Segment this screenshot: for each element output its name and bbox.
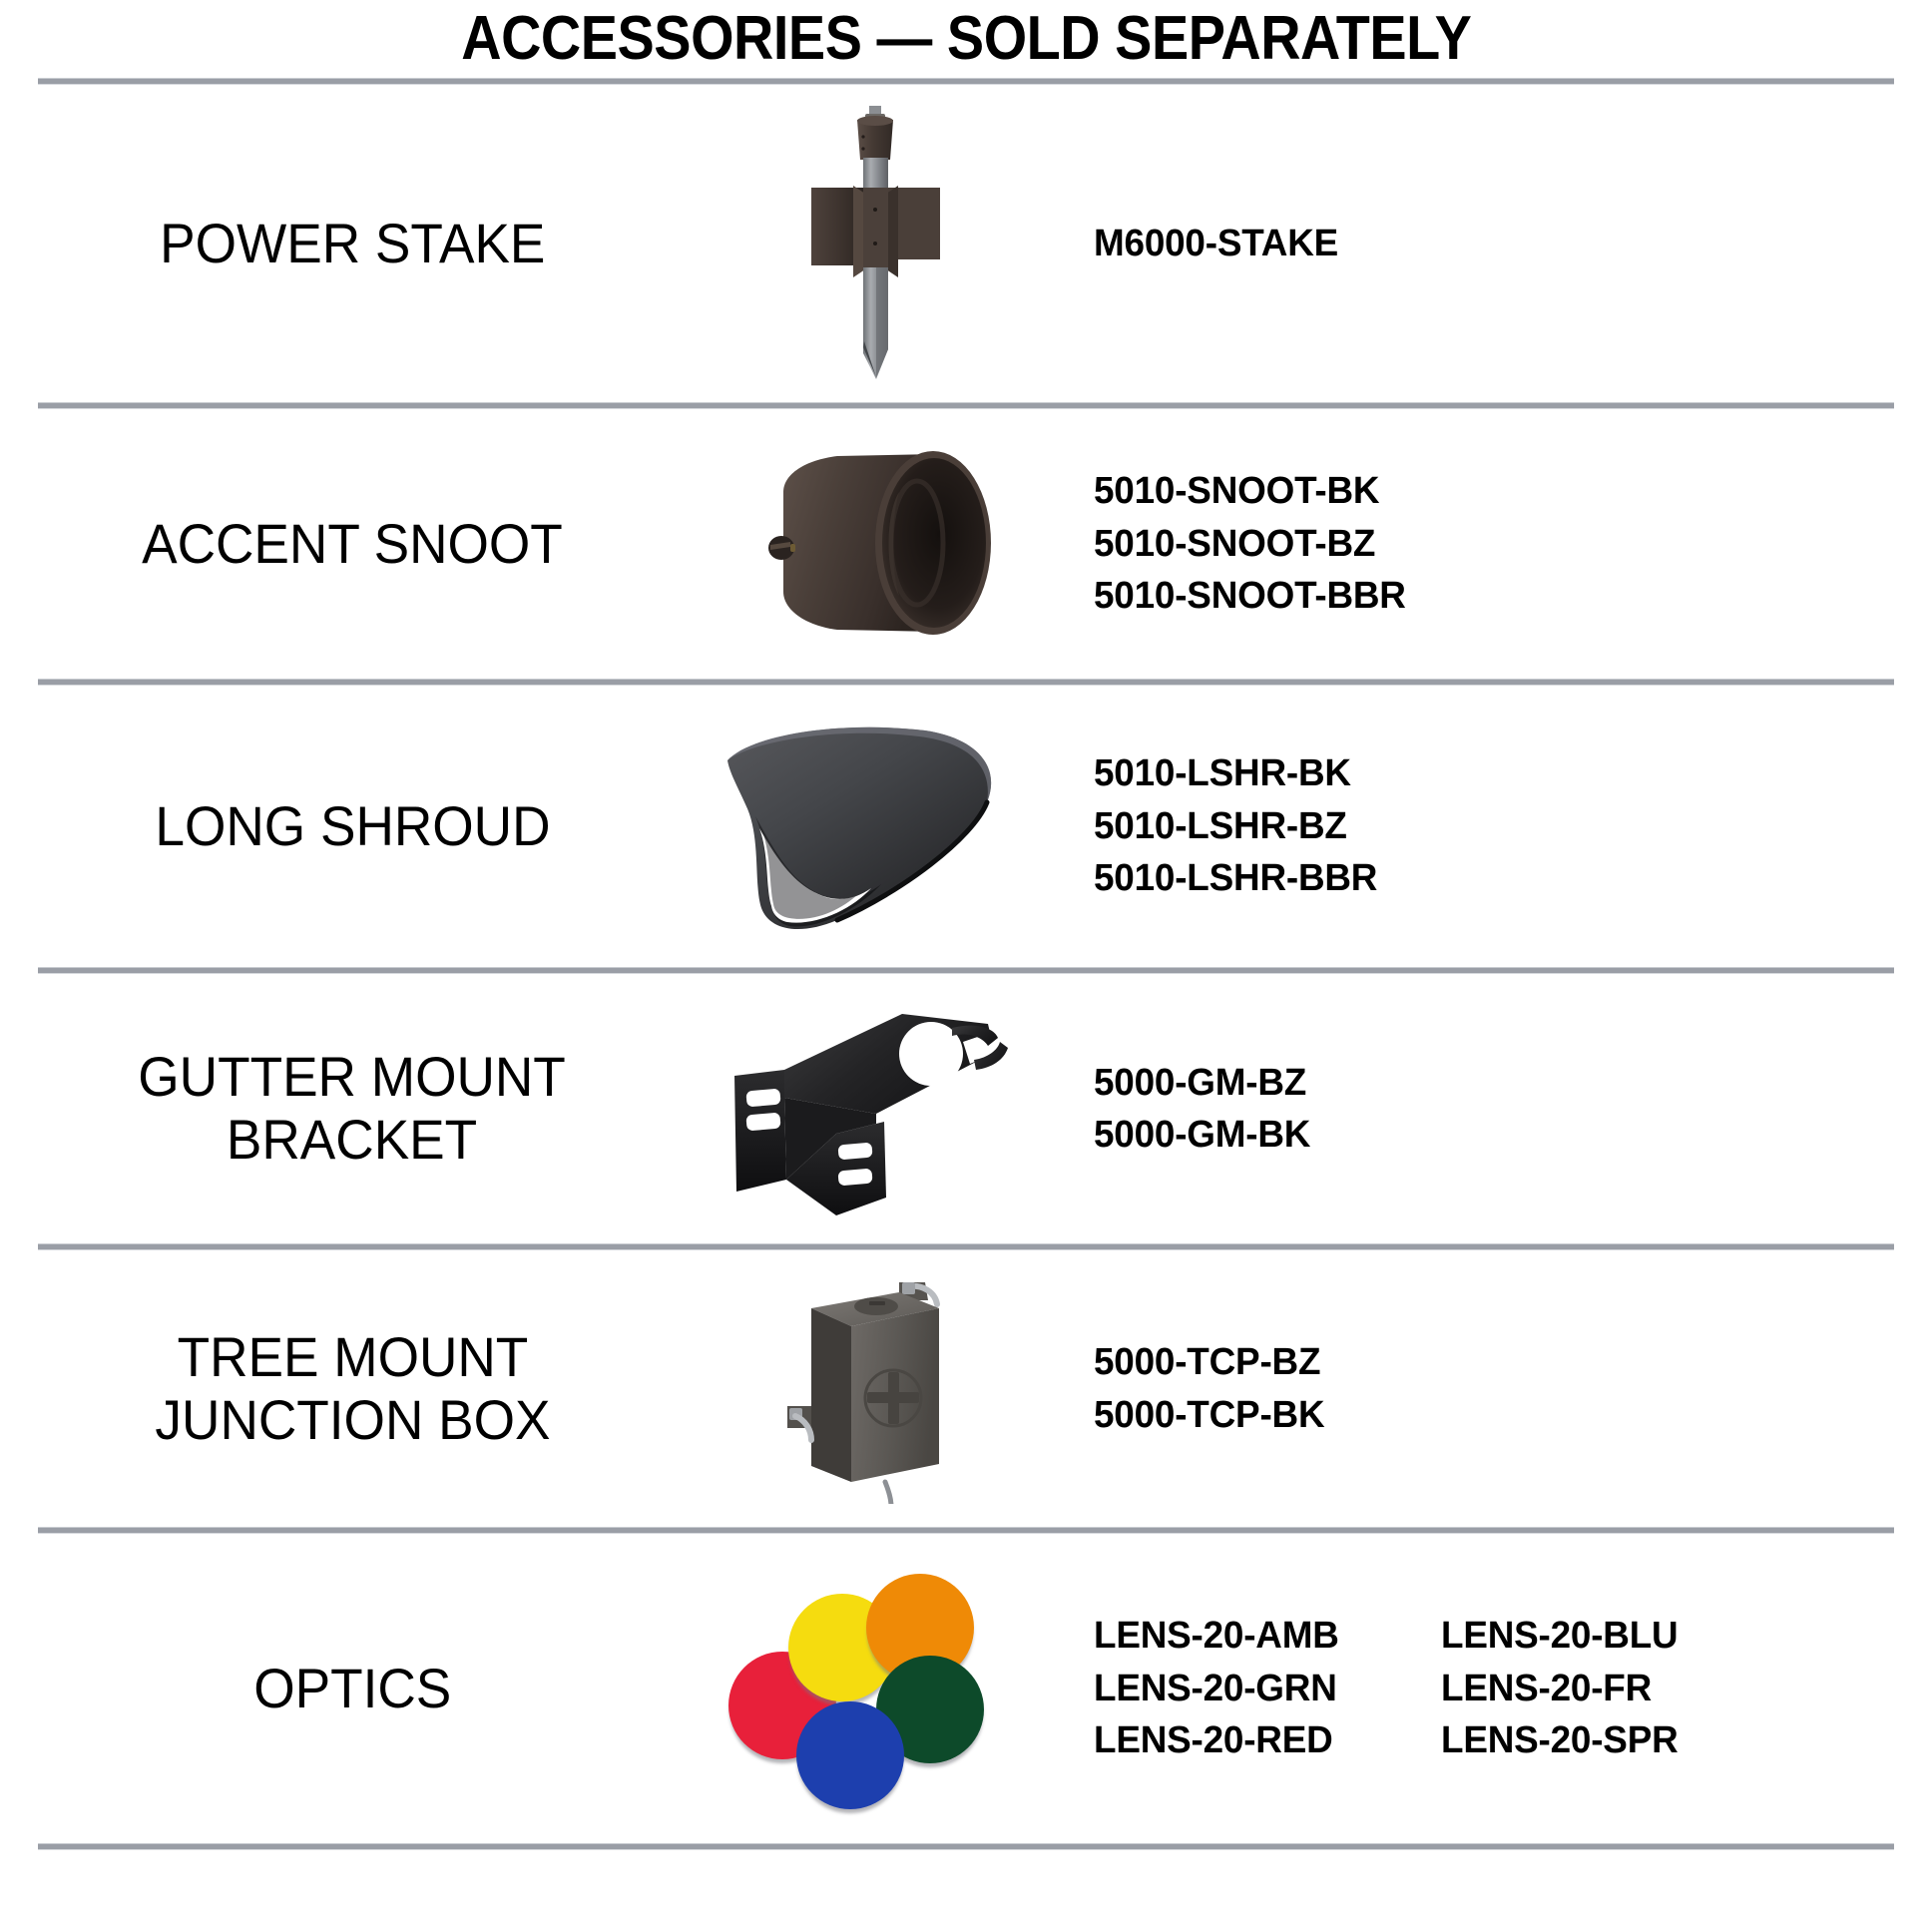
long-shroud-image [712, 717, 1041, 936]
sku-line: 5000-GM-BK [1094, 1109, 1870, 1161]
accessory-sku-cell: LENS-20-AMB LENS-20-BLU LENS-20-GRN LENS… [1076, 1610, 1894, 1766]
divider-rule-top [38, 78, 1894, 85]
sku-line: 5010-LSHR-BZ [1094, 800, 1870, 852]
page-title: ACCESSORIES — SOLD SEPARATELY [461, 8, 1471, 70]
accessories-sheet: ACCESSORIES — SOLD SEPARATELY POWER STAK… [0, 0, 1932, 1932]
accent-snoot-image [741, 444, 1011, 644]
accessory-image-cell [677, 1574, 1076, 1803]
accessory-name: TREE MOUNT JUNCTION BOX [155, 1326, 550, 1451]
sku-line: 5010-SNOOT-BK [1094, 465, 1870, 517]
sku-line: LENS-20-FR [1441, 1663, 1880, 1714]
accessory-sku-cell: 5010-SNOOT-BK 5010-SNOOT-BZ 5010-SNOOT-B… [1076, 465, 1894, 622]
accessory-row-long-shroud: LONG SHROUD [0, 686, 1932, 967]
accessory-name-cell: GUTTER MOUNT BRACKET [38, 1046, 677, 1171]
accessory-name: GUTTER MOUNT BRACKET [139, 1046, 567, 1171]
optics-lenses-image [726, 1574, 1026, 1803]
lens-disc-blue [796, 1701, 904, 1809]
accessory-name-cell: OPTICS [38, 1658, 677, 1720]
sku-line: 5010-SNOOT-BZ [1094, 518, 1870, 570]
accessory-name-cell: POWER STAKE [38, 213, 677, 275]
accessory-image-cell [677, 717, 1076, 936]
accessory-image-cell [677, 1002, 1076, 1216]
accessory-name: ACCENT SNOOT [142, 513, 563, 576]
divider-rule-2 [38, 679, 1894, 686]
accessory-name-cell: TREE MOUNT JUNCTION BOX [38, 1326, 677, 1451]
accessory-image-cell [677, 444, 1076, 644]
sku-line: LENS-20-BLU [1441, 1610, 1880, 1662]
sku-line: LENS-20-SPR [1441, 1714, 1880, 1766]
sku-line: 5000-TCP-BZ [1094, 1336, 1870, 1388]
divider-rule-3 [38, 967, 1894, 974]
page-header: ACCESSORIES — SOLD SEPARATELY [0, 0, 1932, 78]
divider-rule-1 [38, 402, 1894, 409]
tree-mount-junction-box-image [781, 1274, 971, 1504]
accessory-image-cell [677, 1274, 1076, 1504]
gutter-mount-bracket-image [726, 1002, 1026, 1216]
accessory-name: OPTICS [253, 1658, 451, 1720]
accessory-name-cell: ACCENT SNOOT [38, 513, 677, 576]
accessory-row-optics: OPTICS LENS-20-AMB LENS-20-BLU LENS-20-G… [0, 1534, 1932, 1843]
accessory-row-tree-mount-junction-box: TREE MOUNT JUNCTION BOX [0, 1250, 1932, 1527]
accessory-sku-cell: 5000-GM-BZ 5000-GM-BK [1076, 1057, 1894, 1162]
power-stake-image [781, 104, 971, 383]
accessory-row-gutter-mount-bracket: GUTTER MOUNT BRACKET [0, 974, 1932, 1243]
accessory-row-accent-snoot: ACCENT SNOOT [0, 409, 1932, 679]
sku-line: 5010-SNOOT-BBR [1094, 570, 1870, 622]
accessory-image-cell [677, 104, 1076, 383]
divider-rule-5 [38, 1527, 1894, 1534]
divider-rule-bottom [38, 1843, 1894, 1850]
sku-line: 5010-LSHR-BBR [1094, 852, 1870, 904]
divider-rule-4 [38, 1243, 1894, 1250]
accessory-sku-cell: 5000-TCP-BZ 5000-TCP-BK [1076, 1336, 1894, 1441]
sku-line: LENS-20-AMB [1094, 1610, 1413, 1662]
sku-line: LENS-20-GRN [1094, 1663, 1413, 1714]
optics-sku-grid: LENS-20-AMB LENS-20-BLU LENS-20-GRN LENS… [1094, 1610, 1894, 1766]
accessory-name: POWER STAKE [160, 213, 545, 275]
accessory-name: LONG SHROUD [155, 795, 550, 858]
accessory-sku-cell: 5010-LSHR-BK 5010-LSHR-BZ 5010-LSHR-BBR [1076, 747, 1894, 904]
accessory-sku-cell: M6000-STAKE [1076, 218, 1894, 269]
sku-line: 5000-GM-BZ [1094, 1057, 1870, 1109]
sku-line: 5000-TCP-BK [1094, 1389, 1870, 1441]
sku-line: M6000-STAKE [1094, 218, 1870, 269]
accessory-row-power-stake: POWER STAKE [0, 85, 1932, 402]
sku-line: LENS-20-RED [1094, 1714, 1413, 1766]
accessory-name-cell: LONG SHROUD [38, 795, 677, 858]
sku-line: 5010-LSHR-BK [1094, 747, 1870, 799]
